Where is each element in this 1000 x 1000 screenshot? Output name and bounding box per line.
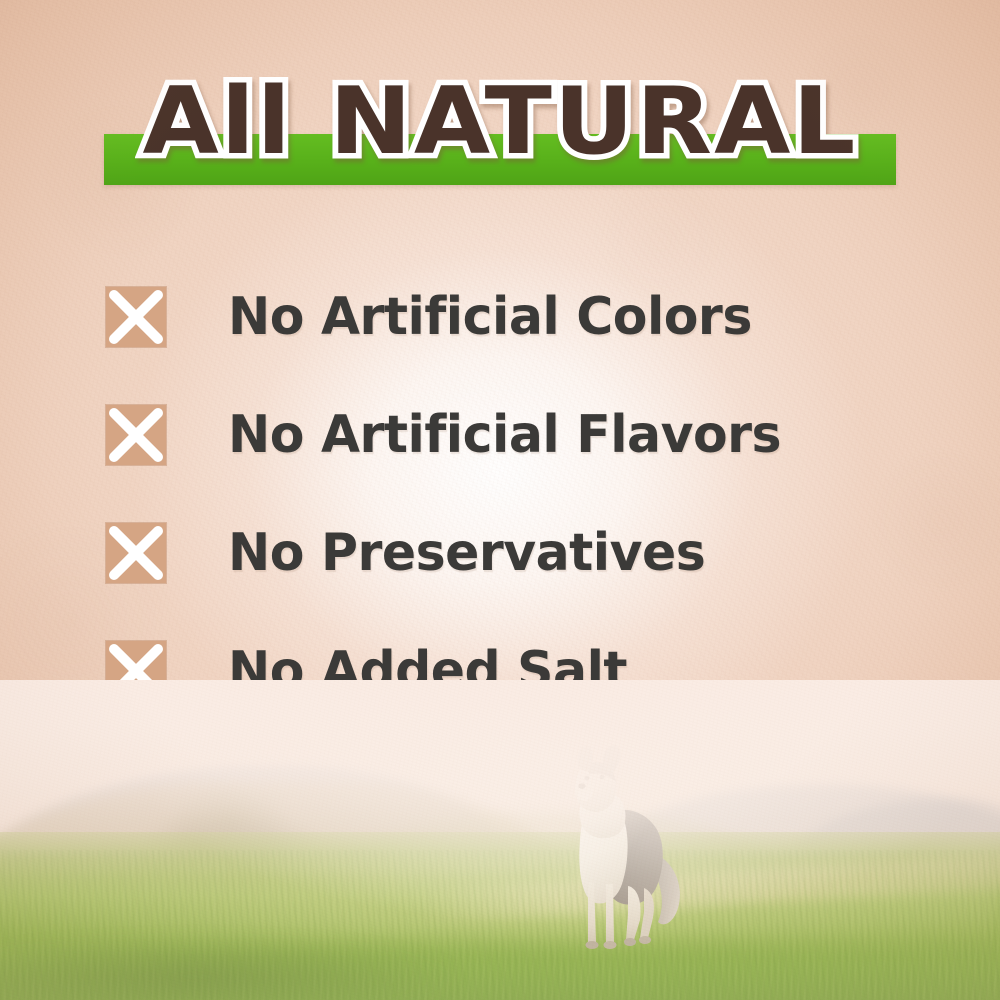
dog-ear-right: [603, 745, 621, 774]
list-item: No Artificial Flavors: [106, 376, 926, 494]
dog-paw-3: [624, 938, 636, 946]
dog-front-leg-right: [606, 884, 614, 943]
dog-illustration: [544, 742, 694, 966]
dog-paw-1: [586, 941, 599, 949]
claim-label-no-artificial-flavors: No Artificial Flavors: [228, 407, 781, 463]
checkbox-no-artificial-flavors: [106, 405, 166, 465]
dog-eye-left: [585, 776, 590, 780]
page-title: All NATURAL: [0, 62, 1000, 180]
lifestyle-photo: [0, 680, 1000, 1000]
x-mark-icon: [101, 518, 171, 588]
dog-eye-right: [600, 775, 605, 779]
checkbox-no-artificial-colors: [106, 287, 166, 347]
checkbox-no-preservatives: [106, 523, 166, 583]
list-item: No Artificial Colors: [106, 258, 926, 376]
claim-label-no-preservatives: No Preservatives: [228, 525, 705, 581]
product-feature-poster: All NATURAL No Artificial Colors No Arti…: [0, 0, 1000, 1000]
border-collie-dog: [544, 742, 694, 966]
grass-foreground-shadow: [0, 932, 600, 1000]
list-item: No Preservatives: [106, 494, 926, 612]
dog-ear-left: [578, 746, 593, 770]
claims-list: No Artificial Colors No Artificial Flavo…: [106, 258, 926, 730]
claim-label-no-artificial-colors: No Artificial Colors: [228, 289, 752, 345]
dog-nose: [578, 783, 585, 789]
dog-paw-4: [639, 936, 651, 944]
headline-block: All NATURAL: [0, 62, 1000, 202]
x-mark-icon: [101, 282, 171, 352]
x-mark-icon: [101, 400, 171, 470]
dog-paw-2: [604, 941, 617, 949]
